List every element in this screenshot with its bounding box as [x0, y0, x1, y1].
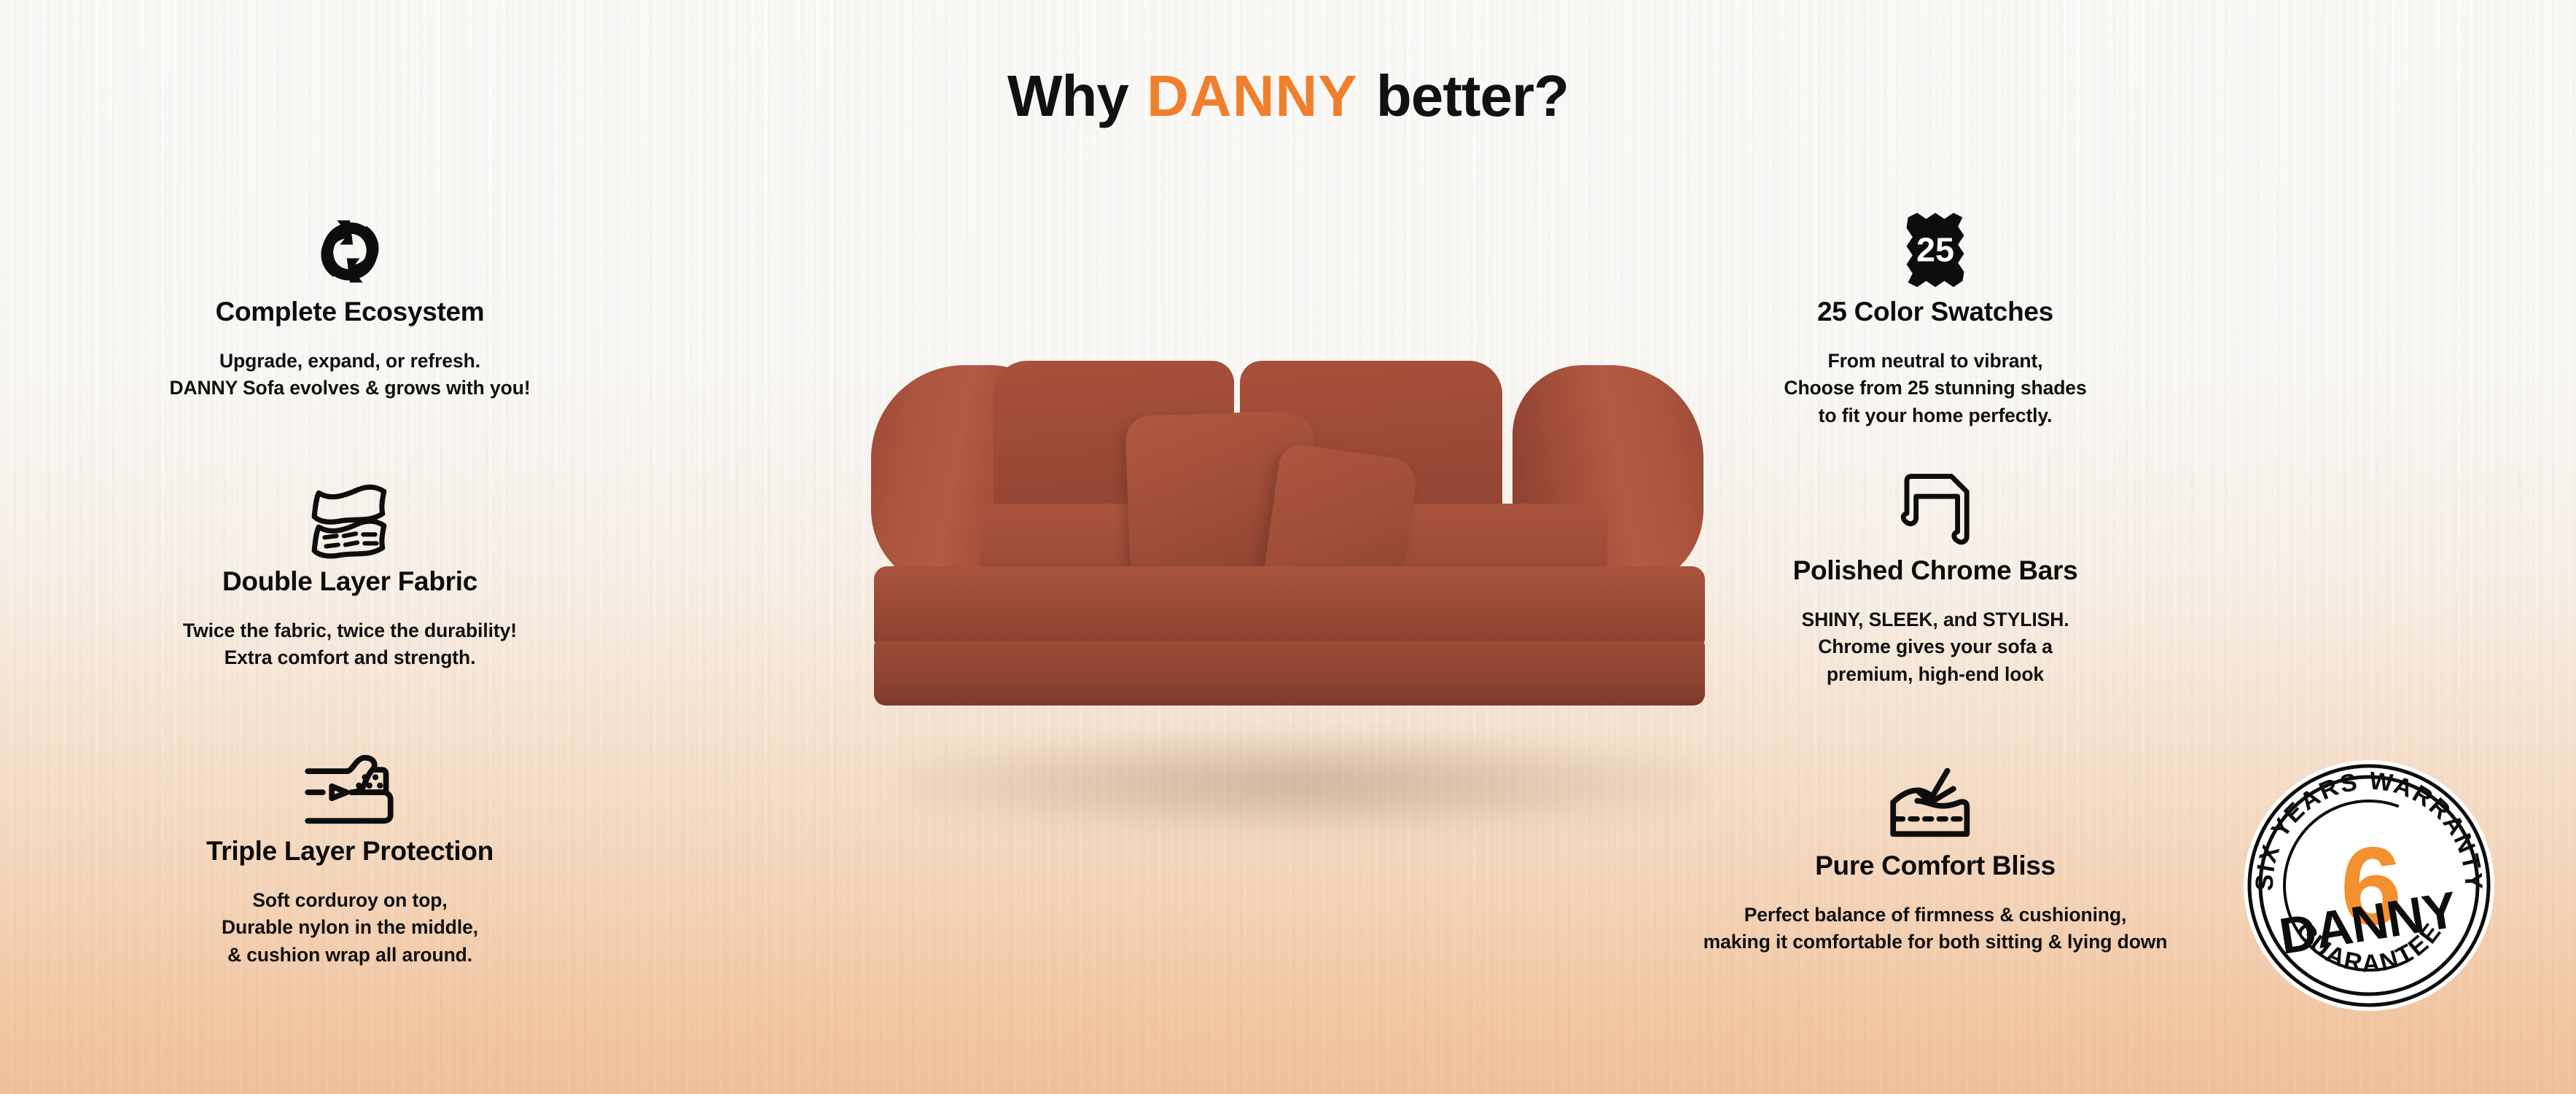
- title-prefix: Why: [1007, 63, 1128, 128]
- feature-pure-comfort-bliss: Pure Comfort Bliss Perfect balance of fi…: [1604, 765, 2267, 956]
- desc-line: to fit your home perfectly.: [1709, 402, 2161, 430]
- feature-double-layer-fabric: Double Layer Fabric Twice the fabric, tw…: [124, 481, 576, 672]
- desc-line: Perfect balance of firmness & cushioning…: [1604, 902, 2267, 929]
- feature-title: 25 Color Swatches: [1709, 297, 2161, 327]
- desc-line: premium, high-end look: [1709, 661, 2161, 689]
- desc-line: Soft corduroy on top,: [124, 887, 576, 915]
- product-sofa-image: [871, 361, 1728, 703]
- desc-line: & cushion wrap all around.: [124, 942, 576, 969]
- feature-description: Twice the fabric, twice the durability! …: [124, 617, 576, 672]
- desc-line: Chrome gives your sofa a: [1709, 633, 2161, 661]
- sofa-drop-shadow: [897, 736, 1702, 831]
- desc-line: making it comfortable for both sitting &…: [1604, 929, 2267, 956]
- warranty-guarantee-badge: SIX YEARS WARRANTY GUARANTEE 6 DANNY: [2241, 758, 2497, 1013]
- feature-triple-layer-protection: Triple Layer Protection Soft corduroy on…: [124, 751, 576, 969]
- feature-title: Triple Layer Protection: [124, 837, 576, 867]
- desc-line: DANNY Sofa evolves & grows with you!: [124, 375, 576, 402]
- desc-line: From neutral to vibrant,: [1709, 348, 2161, 375]
- title-suffix: better?: [1376, 63, 1569, 128]
- hand-pressing-cushion-icon: [1604, 765, 2267, 845]
- desc-line: SHINY, SLEEK, and STYLISH.: [1709, 606, 2161, 634]
- triple-layer-mattress-icon: [124, 751, 576, 831]
- feature-title: Complete Ecosystem: [124, 297, 576, 327]
- sofa-base-lower-fold: [874, 641, 1705, 706]
- feature-title: Pure Comfort Bliss: [1604, 851, 2267, 881]
- feature-description: Perfect balance of firmness & cushioning…: [1604, 902, 2267, 956]
- feature-description: Upgrade, expand, or refresh. DANNY Sofa …: [124, 348, 576, 402]
- feature-description: Soft corduroy on top, Durable nylon in t…: [124, 887, 576, 969]
- feature-title: Double Layer Fabric: [124, 567, 576, 597]
- feature-complete-ecosystem: Complete Ecosystem Upgrade, expand, or r…: [124, 211, 576, 402]
- recycle-cycle-arrows-icon: [124, 211, 576, 292]
- feature-description: SHINY, SLEEK, and STYLISH. Chrome gives …: [1709, 606, 2161, 689]
- feature-description: From neutral to vibrant, Choose from 25 …: [1709, 348, 2161, 430]
- double-layer-fabric-icon: [124, 481, 576, 561]
- svg-text:25: 25: [1916, 231, 1954, 269]
- sofa-base-upper-fold: [874, 566, 1705, 645]
- desc-line: Twice the fabric, twice the durability!: [124, 617, 576, 645]
- page-title: Why DANNY better?: [0, 67, 2576, 125]
- desc-line: Durable nylon in the middle,: [124, 914, 576, 942]
- feature-25-color-swatches: 25 25 Color Swatches From neutral to vib…: [1709, 211, 2161, 430]
- chrome-bar-leg-icon: [1709, 470, 2161, 550]
- feature-polished-chrome-bars: Polished Chrome Bars SHINY, SLEEK, and S…: [1709, 470, 2161, 689]
- feature-title: Polished Chrome Bars: [1709, 556, 2161, 586]
- desc-line: Upgrade, expand, or refresh.: [124, 348, 576, 375]
- swatch-badge-icon: 25: [1709, 211, 2161, 292]
- desc-line: Choose from 25 stunning shades: [1709, 375, 2161, 402]
- desc-line: Extra comfort and strength.: [124, 644, 576, 672]
- title-brand-danny: DANNY: [1144, 63, 1360, 128]
